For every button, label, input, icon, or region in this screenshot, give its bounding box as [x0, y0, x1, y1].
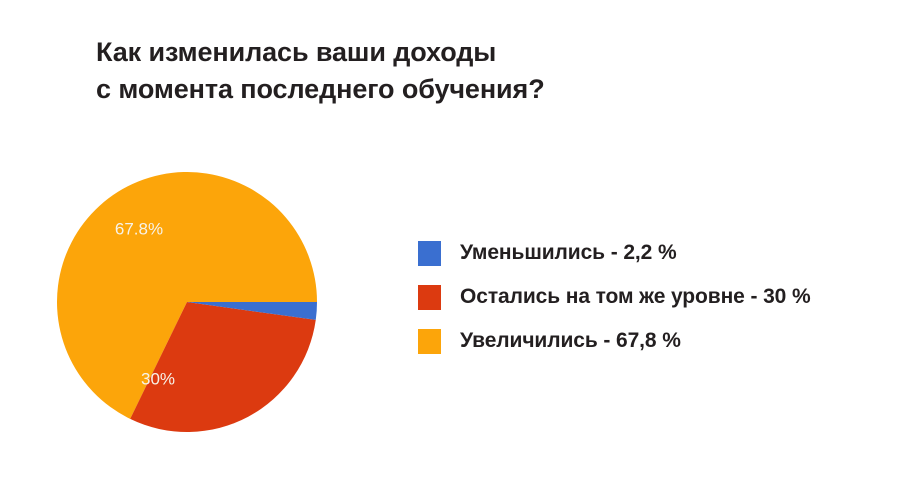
legend-label-decrease: Уменьшились - 2,2 %	[460, 241, 677, 265]
pie-slice-label-same: 30%	[141, 369, 175, 388]
legend-label-increase: Увеличились - 67,8 %	[460, 329, 681, 353]
pie-slice-label-increase: 67.8%	[115, 219, 163, 238]
legend-label-same: Остались на том же уровне - 30 %	[460, 285, 811, 309]
legend-swatch-decrease-icon	[418, 241, 441, 266]
legend-swatch-same-icon	[418, 285, 441, 310]
pie-chart-graphic: 67.8% 30%	[57, 172, 317, 432]
legend-item-decrease[interactable]: Уменьшились - 2,2 %	[418, 231, 888, 275]
pie-svg: 67.8% 30%	[57, 172, 317, 432]
pie-slices	[57, 172, 317, 432]
legend-item-increase[interactable]: Увеличились - 67,8 %	[418, 319, 888, 363]
legend-swatch-increase-icon	[418, 329, 441, 354]
legend-item-same[interactable]: Остались на том же уровне - 30 %	[418, 275, 888, 319]
chart-legend: Уменьшились - 2,2 % Остались на том же у…	[418, 231, 888, 363]
pie-chart-figure: Как изменилась ваши доходы с момента пос…	[0, 0, 924, 502]
page-title: Как изменилась ваши доходы с момента пос…	[96, 34, 796, 107]
